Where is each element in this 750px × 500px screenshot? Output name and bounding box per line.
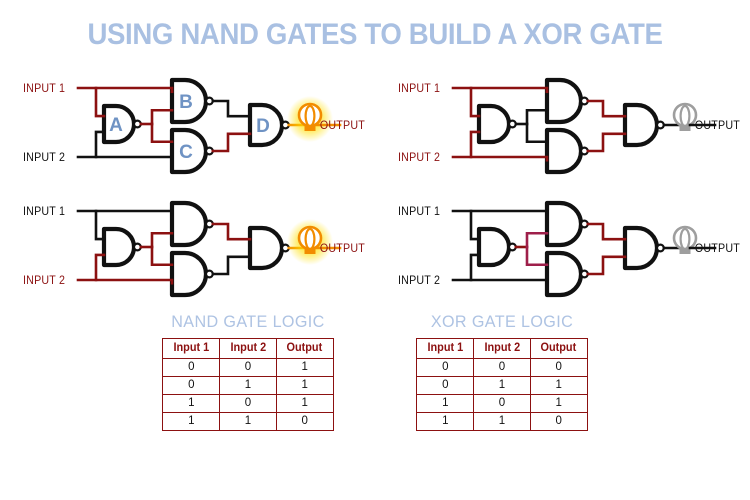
wire-gate-c-to-gate-d xyxy=(588,134,625,151)
wire-gate-c-to-gate-d xyxy=(213,134,250,151)
col-output: Output xyxy=(278,339,332,359)
table-row: 1 0 1 xyxy=(163,395,333,413)
output-label: OUTPUT xyxy=(320,120,365,132)
cell: 1 xyxy=(220,413,277,431)
output-bulb-glass xyxy=(674,104,696,126)
wire-gate-a-to-gate-c xyxy=(152,124,172,142)
input-1-label: INPUT 1 xyxy=(23,206,65,218)
cell: 0 xyxy=(417,359,474,377)
wire-in2-to-gate-c xyxy=(453,157,547,160)
gate-c-letter: C xyxy=(179,142,193,163)
cell: 1 xyxy=(474,413,531,431)
gate-a-letter: A xyxy=(109,115,123,136)
gate-d xyxy=(625,228,657,268)
gate-d xyxy=(250,228,282,268)
table-row: 1 1 0 xyxy=(417,413,587,431)
table-header-row: Input 1 Input 2 Output xyxy=(417,339,587,359)
nand-xor-circuit-both-high: INPUT 1INPUT 2OUTPUT xyxy=(375,62,750,187)
table-row: 1 1 0 xyxy=(163,413,333,431)
wire-gate-a-to-gate-b xyxy=(152,233,172,247)
wire-in2-to-gate-c xyxy=(78,157,172,160)
cell: 1 xyxy=(220,377,277,395)
output-bulb-glass xyxy=(299,227,321,249)
gate-b xyxy=(547,203,581,245)
cell: 1 xyxy=(163,395,220,413)
wire-gate-a-to-gate-c xyxy=(152,247,172,265)
cell: 0 xyxy=(417,377,474,395)
truth-tables-area: NAND GATE LOGIC Input 1 Input 2 Output 0… xyxy=(0,312,750,462)
col-input-2: Input 2 xyxy=(221,339,275,359)
wire-gate-b-to-gate-d xyxy=(213,224,250,239)
wire-gate-b-to-gate-d xyxy=(588,224,625,239)
col-output: Output xyxy=(532,339,586,359)
wire-gate-a-to-gate-b xyxy=(527,233,547,247)
xor-truth-table-block: XOR GATE LOGIC Input 1 Input 2 Output 0 … xyxy=(372,312,632,431)
output-bulb-glass xyxy=(299,104,321,126)
cell: 1 xyxy=(276,377,333,395)
output-bulb-glass xyxy=(674,227,696,249)
table-row: 1 0 1 xyxy=(417,395,587,413)
wire-gate-a-to-gate-b xyxy=(527,110,547,124)
gate-b xyxy=(172,203,206,245)
nand-table-title: NAND GATE LOGIC xyxy=(125,312,372,332)
output-label: OUTPUT xyxy=(320,243,365,255)
gate-a xyxy=(479,106,509,142)
wire-gate-a-to-gate-c xyxy=(527,124,547,142)
table-header-row: Input 1 Input 2 Output xyxy=(163,339,333,359)
output-label: OUTPUT xyxy=(695,243,740,255)
col-input-1: Input 1 xyxy=(418,339,472,359)
cell: 0 xyxy=(530,359,587,377)
cell: 1 xyxy=(417,395,474,413)
table-row: 0 1 1 xyxy=(163,377,333,395)
table-row: 0 0 0 xyxy=(417,359,587,377)
gate-a xyxy=(104,229,134,265)
cell: 1 xyxy=(530,395,587,413)
cell: 0 xyxy=(220,359,277,377)
cell: 0 xyxy=(530,413,587,431)
cell: 1 xyxy=(276,359,333,377)
cell: 1 xyxy=(276,395,333,413)
circuit-diagram-3: INPUT 1INPUT 2OUTPUT xyxy=(0,185,375,310)
input-1-label: INPUT 1 xyxy=(398,83,440,95)
wire-gate-b-to-gate-d xyxy=(213,101,250,116)
input-1-label: INPUT 1 xyxy=(398,206,440,218)
col-input-2: Input 2 xyxy=(475,339,529,359)
gate-b-letter: B xyxy=(179,92,193,113)
wire-gate-b-to-gate-d xyxy=(588,101,625,116)
cell: 0 xyxy=(474,395,531,413)
table-row: 0 1 1 xyxy=(417,377,587,395)
circuit-diagram-1: ABCDINPUT 1INPUT 2OUTPUT xyxy=(0,62,375,187)
cell: 0 xyxy=(474,359,531,377)
wire-gate-a-to-gate-c xyxy=(527,247,547,265)
circuit-diagram-2: INPUT 1INPUT 2OUTPUT xyxy=(375,62,750,187)
input-2-label: INPUT 2 xyxy=(398,152,440,164)
wire-in2-to-gate-c xyxy=(78,280,172,283)
gate-d xyxy=(625,105,657,145)
wire-in1-to-gate-b xyxy=(453,88,547,92)
cell: 0 xyxy=(163,377,220,395)
circuit-diagram-4: INPUT 1INPUT 2OUTPUT xyxy=(375,185,750,310)
input-2-label: INPUT 2 xyxy=(23,275,65,287)
input-1-label: INPUT 1 xyxy=(23,83,65,95)
nand-xor-circuit-both-low: INPUT 1INPUT 2OUTPUT xyxy=(375,185,750,310)
nand-xor-circuit-input-2-high: INPUT 1INPUT 2OUTPUT xyxy=(0,185,375,310)
cell: 1 xyxy=(417,413,474,431)
nand-xor-circuit-input-1-high: ABCDINPUT 1INPUT 2OUTPUT xyxy=(0,62,375,187)
cell: 0 xyxy=(220,395,277,413)
nand-truth-table: Input 1 Input 2 Output 0 0 1 0 1 1 1 0 xyxy=(162,338,333,431)
wire-in1-to-gate-b xyxy=(453,211,547,215)
gate-d-letter: D xyxy=(256,116,270,137)
cell: 1 xyxy=(530,377,587,395)
input-2-label: INPUT 2 xyxy=(398,275,440,287)
wire-gate-c-to-gate-d xyxy=(588,257,625,274)
xor-truth-table: Input 1 Input 2 Output 0 0 0 0 1 1 1 0 xyxy=(416,338,587,431)
wire-in1-to-gate-b xyxy=(78,211,172,215)
nand-truth-table-block: NAND GATE LOGIC Input 1 Input 2 Output 0… xyxy=(118,312,378,431)
gate-c xyxy=(172,253,206,295)
xor-table-title: XOR GATE LOGIC xyxy=(379,312,626,332)
cell: 1 xyxy=(163,413,220,431)
wire-gate-c-to-gate-d xyxy=(213,257,250,274)
cell: 0 xyxy=(163,359,220,377)
page-title: USING NAND GATES TO BUILD A XOR GATE xyxy=(30,18,720,52)
gate-c xyxy=(547,130,581,172)
gate-c xyxy=(547,253,581,295)
table-row: 0 0 1 xyxy=(163,359,333,377)
cell: 0 xyxy=(276,413,333,431)
wire-gate-a-to-gate-b xyxy=(152,110,172,124)
wire-in2-to-gate-c xyxy=(453,280,547,283)
gate-a xyxy=(479,229,509,265)
col-input-1: Input 1 xyxy=(164,339,218,359)
output-label: OUTPUT xyxy=(695,120,740,132)
input-2-label: INPUT 2 xyxy=(23,152,65,164)
wire-in1-to-gate-b xyxy=(78,88,172,92)
gate-b xyxy=(547,80,581,122)
cell: 1 xyxy=(474,377,531,395)
